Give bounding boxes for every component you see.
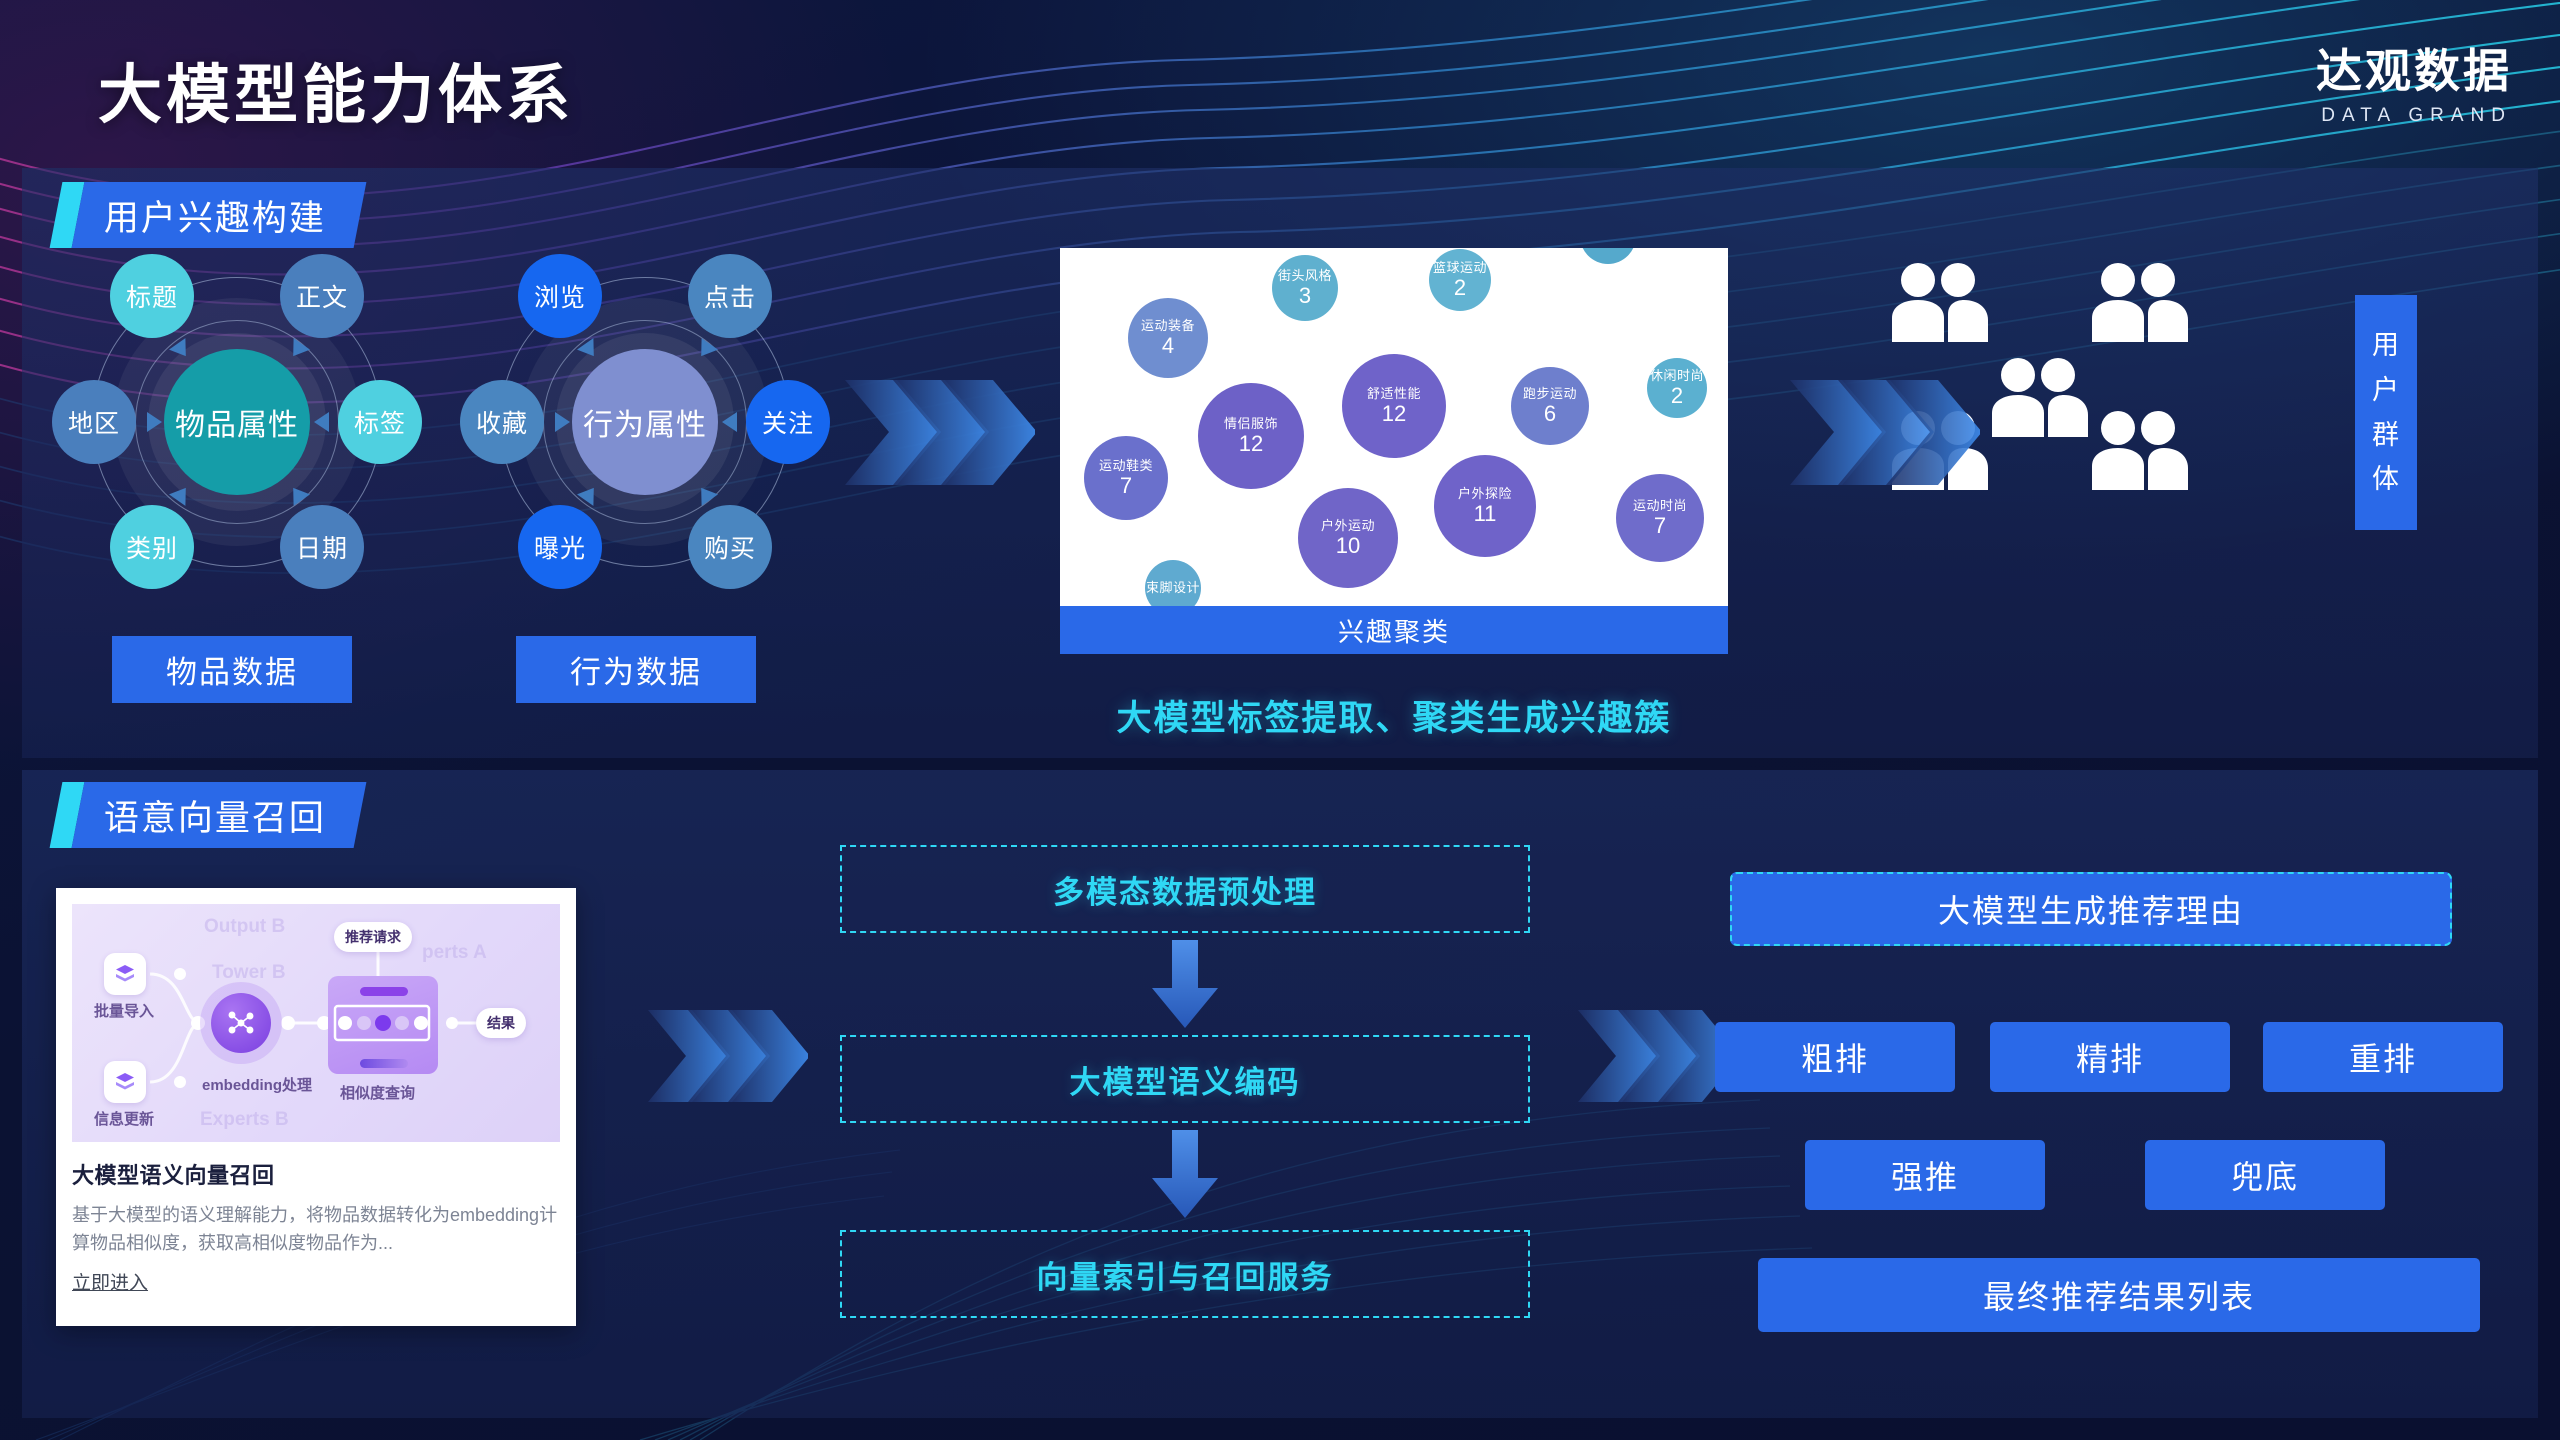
satellite-follow[interactable]: 关注 bbox=[746, 380, 830, 464]
card-thumbnail: Output B Tower B perts A Experts B 批量导入 bbox=[72, 904, 560, 1142]
thumb-label-embedding: embedding处理 bbox=[202, 1074, 312, 1095]
result-box-rerank[interactable]: 重排 bbox=[2263, 1022, 2503, 1092]
result-box-force-push[interactable]: 强推 bbox=[1805, 1140, 2045, 1210]
interest-cluster-chart: 运动装备4街头风格3篮球运动22休闲时尚2舒适性能12跑步运动6情侣服饰12运动… bbox=[1060, 248, 1728, 397]
chevron-arrows-to-cluster bbox=[845, 380, 1035, 485]
bubble-户外运动[interactable]: 户外运动10 bbox=[1298, 488, 1398, 588]
bubble-跑步运动[interactable]: 跑步运动6 bbox=[1511, 367, 1589, 445]
bubble-情侣服饰[interactable]: 情侣服饰12 bbox=[1198, 383, 1304, 489]
satellite-purchase[interactable]: 购买 bbox=[688, 505, 772, 589]
thumb-bar-top bbox=[360, 987, 408, 996]
result-box-fallback[interactable]: 兜底 bbox=[2145, 1140, 2385, 1210]
down-arrow-icon-2 bbox=[1150, 1130, 1220, 1223]
bubble-label: 运动时尚 bbox=[1633, 499, 1687, 513]
section-header-body: 用户兴趣构建 bbox=[72, 182, 367, 248]
bubble-label: 休闲时尚 bbox=[1650, 369, 1704, 383]
chart-caption: 兴趣聚类 bbox=[1060, 606, 1728, 654]
satellite-tag[interactable]: 标签 bbox=[338, 380, 422, 464]
section-header-semantic-recall: 语意向量召回 bbox=[50, 782, 367, 848]
bubble-value: 2 bbox=[1671, 384, 1683, 407]
satellite-click[interactable]: 点击 bbox=[688, 254, 772, 338]
bubble-运动装备[interactable]: 运动装备4 bbox=[1128, 298, 1208, 378]
thumb-label-import: 批量导入 bbox=[94, 1000, 154, 1021]
result-box-generate-reason[interactable]: 大模型生成推荐理由 bbox=[1730, 872, 2452, 946]
section-title-semantic-recall: 语意向量召回 bbox=[104, 790, 326, 841]
result-box-final-list[interactable]: 最终推荐结果列表 bbox=[1758, 1258, 2480, 1332]
bubble-label: 跑步运动 bbox=[1523, 387, 1577, 401]
bubble-label: 篮球运动 bbox=[1433, 261, 1487, 275]
bubble-value: 12 bbox=[1382, 402, 1406, 425]
satellite-title[interactable]: 标题 bbox=[110, 254, 194, 338]
thumb-node-update-icon bbox=[104, 1061, 146, 1103]
card-enter-link[interactable]: 立即进入 bbox=[72, 1268, 560, 1295]
result-box-fine-ranking[interactable]: 精排 bbox=[1990, 1022, 2230, 1092]
bubble-value: 7 bbox=[1654, 514, 1666, 537]
bubble-街头风格[interactable]: 街头风格3 bbox=[1272, 255, 1338, 321]
thumb-embedding-icon bbox=[211, 993, 271, 1053]
section-title-user-interest: 用户兴趣构建 bbox=[104, 190, 326, 241]
bubble-label: 情侣服饰 bbox=[1224, 417, 1278, 431]
arrow-icon-right bbox=[314, 412, 329, 432]
bubble-value: 3 bbox=[1299, 284, 1311, 307]
bubble-label: 运动鞋类 bbox=[1099, 459, 1153, 473]
bubble-运动鞋类[interactable]: 运动鞋类7 bbox=[1084, 436, 1168, 520]
bubble-value: 4 bbox=[1162, 334, 1174, 357]
radial-diagram-item-attributes: 物品属性 标题 正文 标签 日期 类别 地区 bbox=[52, 262, 422, 582]
arrow-icon-left bbox=[555, 412, 570, 432]
bubble-value: 10 bbox=[1336, 534, 1360, 557]
radial-diagram-behavior-attributes: 行为属性 浏览 点击 关注 购买 曝光 收藏 bbox=[460, 262, 830, 582]
thumb-node-import-icon bbox=[104, 953, 146, 995]
card-title: 大模型语义向量召回 bbox=[72, 1158, 560, 1190]
section-header-user-interest: 用户兴趣构建 bbox=[50, 182, 367, 248]
bubble-label: 运动装备 bbox=[1141, 319, 1195, 333]
chevron-arrows-to-user-group bbox=[1790, 380, 1980, 485]
brand-logo: 达观数据 DATA GRAND bbox=[2316, 48, 2512, 127]
bubble-束脚设计[interactable]: 束脚设计 bbox=[1145, 560, 1201, 606]
chevron-arrows-to-results bbox=[1578, 1010, 1738, 1102]
bubble-户外探险[interactable]: 户外探险11 bbox=[1434, 455, 1536, 557]
down-arrow-icon-1 bbox=[1150, 940, 1220, 1033]
satellite-category[interactable]: 类别 bbox=[110, 505, 194, 589]
bubble-label: 束脚设计 bbox=[1146, 581, 1200, 595]
user-group-label: 用 户 群 体 bbox=[2355, 295, 2417, 530]
user-group-char-4: 体 bbox=[2372, 457, 2400, 502]
flow-box-vector-index-recall[interactable]: 向量索引与召回服务 bbox=[840, 1230, 1530, 1318]
data-box-behavior-data[interactable]: 行为数据 bbox=[516, 636, 756, 703]
thumb-bar-bottom bbox=[360, 1059, 408, 1068]
satellite-exposure[interactable]: 曝光 bbox=[518, 505, 602, 589]
page-header: 大模型能力体系 达观数据 DATA GRAND bbox=[0, 0, 2560, 165]
arrow-icon-left bbox=[147, 412, 162, 432]
thumb-label-similarity: 相似度查询 bbox=[340, 1082, 415, 1103]
bubble-plot-area: 运动装备4街头风格3篮球运动22休闲时尚2舒适性能12跑步运动6情侣服饰12运动… bbox=[1060, 248, 1728, 606]
user-group-char-3: 群 bbox=[2372, 413, 2400, 458]
bubble-label: 舒适性能 bbox=[1367, 387, 1421, 401]
bubble-篮球运动[interactable]: 篮球运动2 bbox=[1429, 249, 1491, 311]
bubble-舒适性能[interactable]: 舒适性能12 bbox=[1342, 354, 1446, 458]
bubble-label: 户外探险 bbox=[1458, 487, 1512, 501]
user-group-char-2: 户 bbox=[2372, 368, 2400, 413]
flow-box-multimodal-preprocess[interactable]: 多模态数据预处理 bbox=[840, 845, 1530, 933]
bubble-unlabeled[interactable]: 2 bbox=[1580, 248, 1636, 264]
bubble-value: 11 bbox=[1474, 502, 1497, 525]
bubble-value: 6 bbox=[1544, 402, 1556, 425]
arrow-icon-right bbox=[722, 412, 737, 432]
bubble-value: 2 bbox=[1454, 276, 1466, 299]
hub-item-attributes: 物品属性 bbox=[164, 349, 310, 495]
brand-name-cn: 达观数据 bbox=[2316, 48, 2512, 94]
cluster-note-text: 大模型标签提取、聚类生成兴趣簇 bbox=[1060, 690, 1728, 741]
card-description: 基于大模型的语义理解能力，将物品数据转化为embedding计算物品相似度，获取… bbox=[72, 1202, 560, 1258]
bubble-value: 2 bbox=[1602, 248, 1614, 249]
thumb-similarity-dots bbox=[331, 1002, 435, 1046]
bubble-label: 街头风格 bbox=[1278, 269, 1332, 283]
thumb-pill-result: 结果 bbox=[476, 1008, 526, 1038]
data-box-item-data[interactable]: 物品数据 bbox=[112, 636, 352, 703]
bubble-value: 7 bbox=[1120, 474, 1132, 497]
page-title: 大模型能力体系 bbox=[98, 44, 574, 136]
flow-box-semantic-encoding[interactable]: 大模型语义编码 bbox=[840, 1035, 1530, 1123]
satellite-browse[interactable]: 浏览 bbox=[518, 254, 602, 338]
satellite-favorite[interactable]: 收藏 bbox=[460, 380, 544, 464]
bubble-label: 户外运动 bbox=[1321, 519, 1375, 533]
bubble-休闲时尚[interactable]: 休闲时尚2 bbox=[1647, 358, 1707, 418]
user-group-char-1: 用 bbox=[2372, 323, 2400, 368]
bubble-value: 12 bbox=[1239, 432, 1263, 455]
result-box-coarse-ranking[interactable]: 粗排 bbox=[1715, 1022, 1955, 1092]
thumb-label-update: 信息更新 bbox=[94, 1108, 154, 1129]
thumb-pill-request: 推荐请求 bbox=[334, 922, 412, 952]
chevron-arrows-to-flow bbox=[648, 1010, 808, 1102]
satellite-region[interactable]: 地区 bbox=[52, 380, 136, 464]
satellite-body[interactable]: 正文 bbox=[280, 254, 364, 338]
semantic-recall-card[interactable]: Output B Tower B perts A Experts B 批量导入 bbox=[56, 888, 576, 1326]
satellite-date[interactable]: 日期 bbox=[280, 505, 364, 589]
bubble-运动时尚[interactable]: 运动时尚7 bbox=[1616, 474, 1704, 562]
hub-behavior-attributes: 行为属性 bbox=[572, 349, 718, 495]
brand-name-en: DATA GRAND bbox=[2316, 105, 2512, 127]
section-header-body: 语意向量召回 bbox=[72, 782, 367, 848]
